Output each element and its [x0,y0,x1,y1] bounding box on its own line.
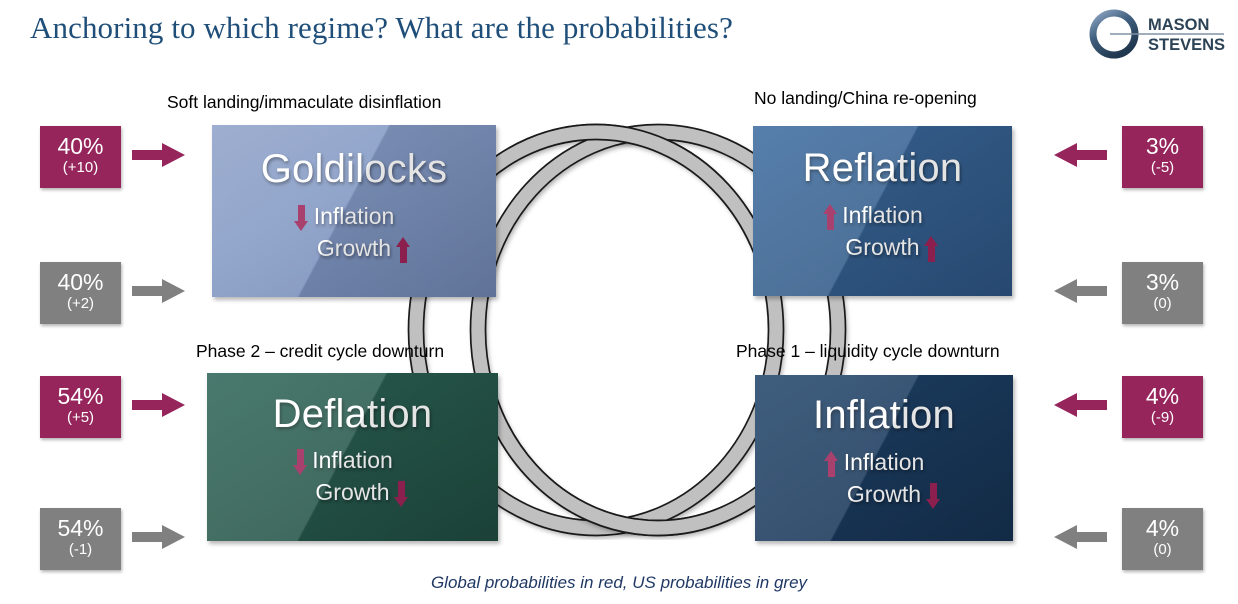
logo-line1: MASON [1148,16,1209,34]
arrow-left-red-inflation [1053,392,1107,418]
inflation-label: Inflation [314,203,395,230]
growth-label: Growth [847,481,921,508]
caption-inflation: Phase 1 – liquidity cycle downturn [736,341,1000,362]
arrow-down-icon [390,479,414,507]
quadrant-goldilocks[interactable]: Goldilocks Inflation Growth [212,125,496,297]
badge-pct: 4% [1122,516,1203,541]
badge-delta: (0) [1122,541,1203,558]
mason-stevens-logo: MASON STEVENS [1088,8,1230,60]
badge-delta: (-5) [1122,159,1203,176]
quadrant-goldilocks-growth-row: Growth [212,235,496,263]
logo-line2: STEVENS [1148,36,1225,54]
badge-inflation-global[interactable]: 4% (-9) [1122,376,1203,438]
arrow-down-icon [290,203,314,231]
badge-delta: (0) [1122,295,1203,312]
arrow-right-grey-deflation [132,524,186,550]
arrow-right-red-deflation [132,392,186,418]
quadrant-deflation-growth-row: Growth [207,479,498,507]
badge-pct: 54% [40,516,121,541]
arrow-down-icon [288,447,312,475]
caption-goldilocks: Soft landing/immaculate disinflation [167,92,441,113]
quadrant-reflation-title: Reflation [753,146,1012,190]
arrow-left-red-reflation [1053,142,1107,168]
quadrant-reflation[interactable]: Reflation Inflation Growth [753,126,1012,296]
badge-delta: (-1) [40,541,121,558]
footer-note: Global probabilities in red, US probabil… [0,573,1238,593]
badge-pct: 3% [1122,270,1203,295]
badge-deflation-global[interactable]: 54% (+5) [40,376,121,438]
badge-goldilocks-global[interactable]: 40% (+10) [40,126,121,188]
quadrant-inflation-title: Inflation [755,393,1013,437]
arrow-right-red-goldilocks [132,142,186,168]
quadrant-inflation-growth-row: Growth [755,481,1013,509]
badge-reflation-global[interactable]: 3% (-5) [1122,126,1203,188]
slide-canvas: Anchoring to which regime? What are the … [0,0,1238,604]
growth-label: Growth [317,235,391,262]
caption-reflation: No landing/China re-opening [754,88,977,109]
badge-pct: 54% [40,384,121,409]
growth-label: Growth [315,479,389,506]
inflation-label: Inflation [312,447,393,474]
page-title: Anchoring to which regime? What are the … [30,10,733,46]
arrow-down-icon [921,481,945,509]
arrow-left-grey-reflation [1053,278,1107,304]
arrow-left-grey-inflation [1053,524,1107,550]
caption-deflation: Phase 2 – credit cycle downturn [196,341,444,362]
badge-reflation-us[interactable]: 3% (0) [1122,262,1203,324]
badge-pct: 4% [1122,384,1203,409]
quadrant-deflation[interactable]: Deflation Inflation Growth [207,373,498,541]
arrow-up-icon [820,449,844,477]
quadrant-reflation-growth-row: Growth [753,234,1012,262]
quadrant-inflation[interactable]: Inflation Inflation Growth [755,375,1013,541]
arrow-right-grey-goldilocks [132,278,186,304]
badge-pct: 3% [1122,134,1203,159]
badge-delta: (+5) [40,409,121,426]
badge-pct: 40% [40,270,121,295]
badge-deflation-us[interactable]: 54% (-1) [40,508,121,570]
growth-label: Growth [845,234,919,261]
badge-inflation-us[interactable]: 4% (0) [1122,508,1203,570]
quadrant-deflation-inflation-row: Inflation [207,447,498,475]
badge-pct: 40% [40,134,121,159]
badge-delta: (+2) [40,295,121,312]
quadrant-inflation-inflation-row: Inflation [755,449,1013,477]
badge-delta: (-9) [1122,409,1203,426]
badge-goldilocks-us[interactable]: 40% (+2) [40,262,121,324]
arrow-up-icon [818,202,842,230]
quadrant-goldilocks-inflation-row: Inflation [212,203,496,231]
arrow-up-icon [391,235,415,263]
quadrant-goldilocks-title: Goldilocks [212,147,496,191]
inflation-label: Inflation [844,449,925,476]
arrow-up-icon [920,234,944,262]
badge-delta: (+10) [40,159,121,176]
inflation-label: Inflation [842,202,923,229]
quadrant-deflation-title: Deflation [207,392,498,436]
quadrant-reflation-inflation-row: Inflation [753,202,1012,230]
